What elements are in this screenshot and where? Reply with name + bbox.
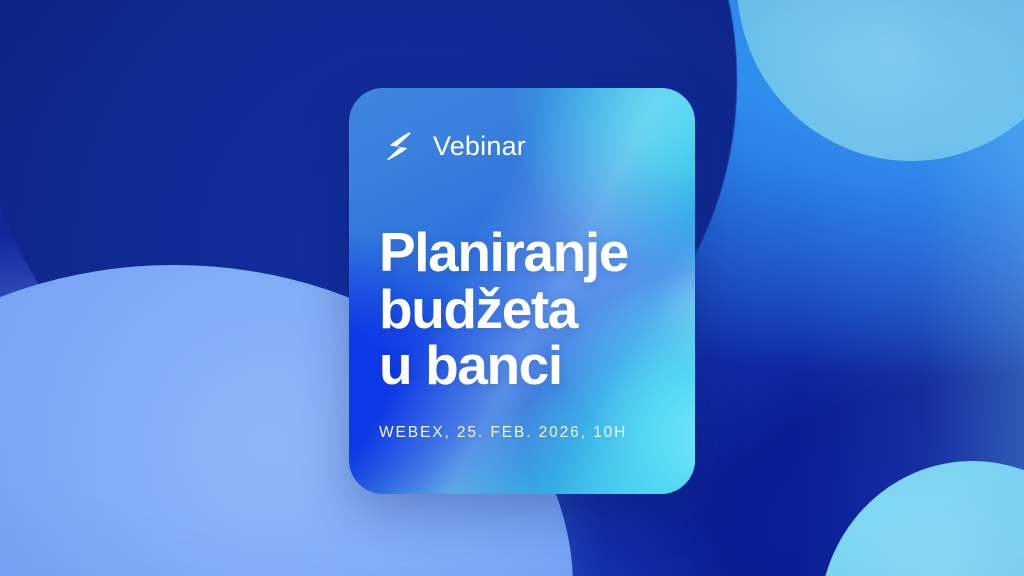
brand-row: Vebinar bbox=[379, 126, 665, 166]
stylized-s-lightning-logo-icon bbox=[379, 126, 419, 166]
promo-banner: Vebinar Planiranje budžeta u banci WEBEX… bbox=[0, 0, 1024, 576]
webinar-card: Vebinar Planiranje budžeta u banci WEBEX… bbox=[349, 88, 695, 494]
event-details: WEBEX, 25. FEB. 2026, 10H bbox=[379, 424, 665, 443]
page-title: Planiranje budžeta u banci bbox=[379, 224, 665, 394]
card-content: Vebinar Planiranje budžeta u banci WEBEX… bbox=[349, 88, 695, 494]
brand-label: Vebinar bbox=[433, 133, 526, 160]
